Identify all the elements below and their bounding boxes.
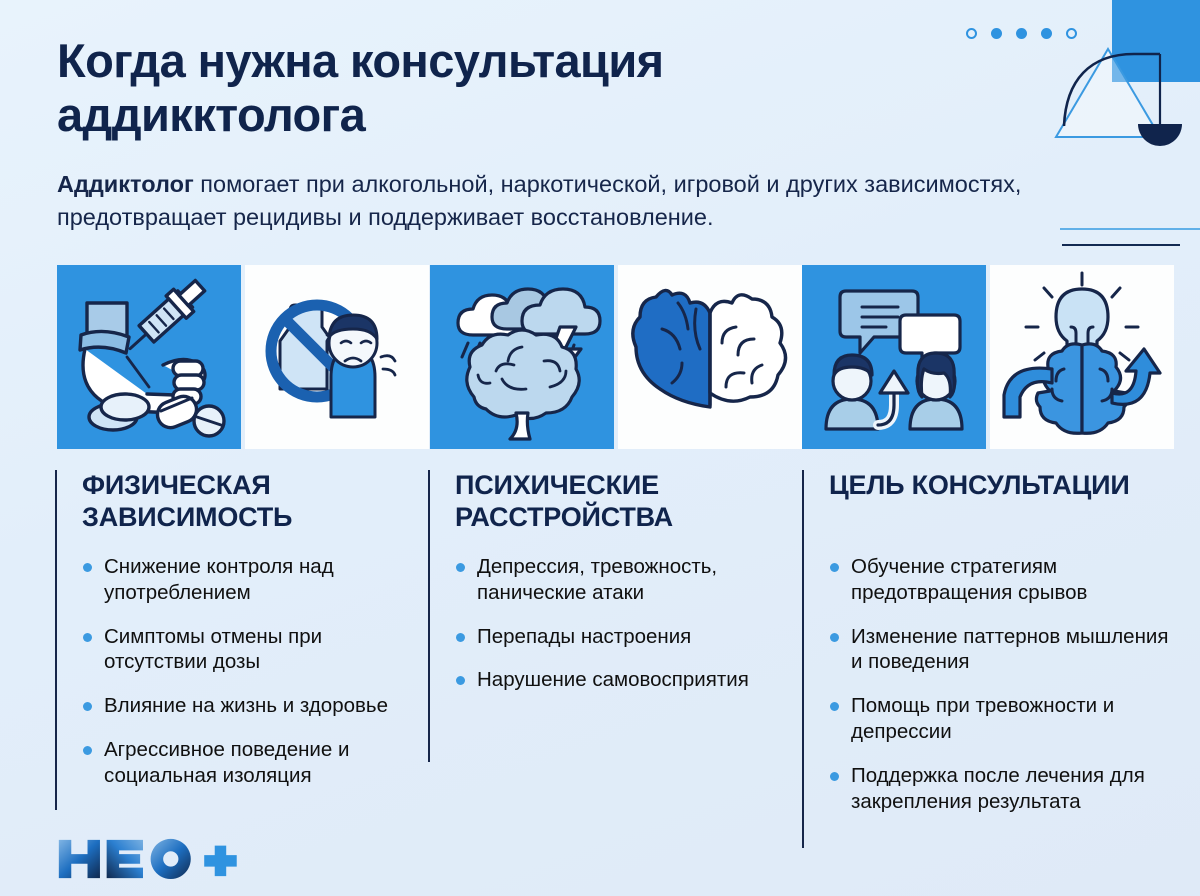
brand-logo [55,836,246,880]
column-bullet-list: Обучение стратегиям предотвращения срыво… [829,554,1169,815]
list-item: Нарушение самовосприятия [455,667,785,693]
column-divider [802,470,804,848]
list-item: Поддержка после лечения для закрепления … [829,763,1169,815]
column-heading: ПСИХИЧЕСКИЕ РАССТРОЙСТВА [455,470,785,533]
tile-arm-syringe-pills [57,265,241,449]
list-item: Обучение стратегиям предотвращения срыво… [829,554,1169,606]
column-bullet-list: Снижение контроля над употреблением Симп… [82,554,422,789]
accent-line-dark [1062,244,1180,246]
tile-people-speech-bubbles [802,265,986,449]
tile-group-mental [430,265,802,449]
list-item: Агрессивное поведение и социальная изоля… [82,737,422,789]
dot-solid-icon [1041,28,1052,39]
list-item: Перепады настроения [455,624,785,650]
subtitle-bold-lead: Аддиктолог [57,171,194,197]
tile-group-goal [802,265,1174,449]
arm-syringe-pills-icon [57,265,241,449]
tile-no-alcohol-sad-person [245,265,429,449]
page-subtitle: Аддиктолог помогает при алкогольной, нар… [57,168,1097,235]
dot-solid-icon [991,28,1002,39]
heart-brain-split-icon [618,265,802,449]
infographic-page: Когда нужна консультация аддикктолога Ад… [0,0,1200,896]
tile-group-physical [57,265,429,449]
subtitle-rest: помогает при алкогольной, наркотической,… [57,171,1021,230]
list-item: Влияние на жизнь и здоровье [82,693,422,719]
column-heading: ЦЕЛЬ КОНСУЛЬТАЦИИ [829,470,1159,502]
no-alcohol-sad-person-icon [245,265,429,449]
list-item: Симптомы отмены при отсутствии дозы [82,624,422,676]
page-title: Когда нужна консультация аддикктолога [57,34,887,141]
dot-hollow-icon [966,28,977,39]
tile-brain-storm-cloud [430,265,614,449]
list-item: Изменение паттернов мышления и поведения [829,624,1169,676]
column-bullet-list: Депрессия, тревожность, панические атаки… [455,554,785,693]
dot-solid-icon [1016,28,1027,39]
list-item: Депрессия, тревожность, панические атаки [455,554,785,606]
curved-hook-with-half-circle-icon [1060,32,1200,157]
tile-heart-brain-split [618,265,802,449]
column-heading: ФИЗИЧЕСКАЯ ЗАВИСИМОСТЬ [82,470,402,533]
column-divider [55,470,57,810]
people-speech-bubbles-icon [802,265,986,449]
lightbulb-brain-arrows-icon [990,265,1174,449]
brain-storm-cloud-icon [430,265,614,449]
list-item: Помощь при тревожности и депрессии [829,693,1169,745]
column-divider [428,470,430,762]
list-item: Снижение контроля над употреблением [82,554,422,606]
tile-lightbulb-brain-arrows [990,265,1174,449]
